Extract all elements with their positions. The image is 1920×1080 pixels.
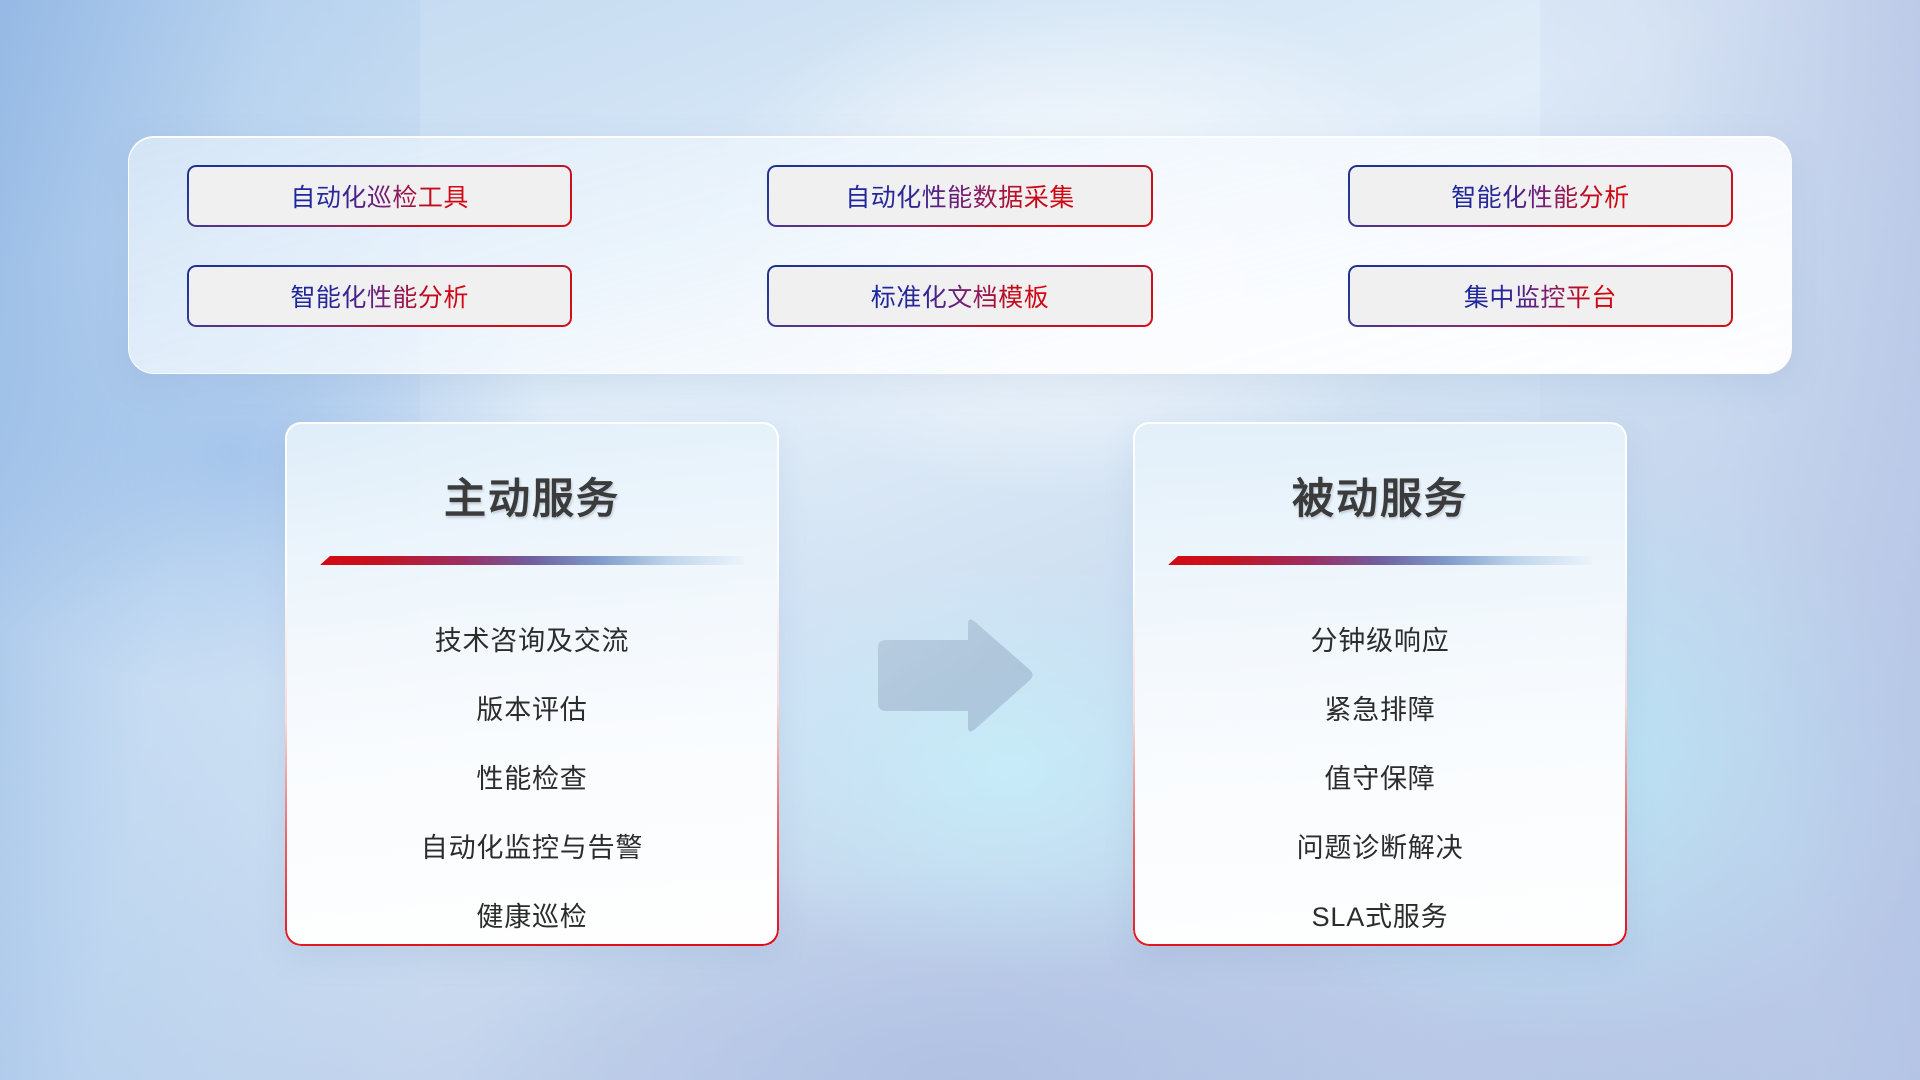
tool-chip-label: 集中监控平台 [1464, 278, 1617, 314]
list-item[interactable]: 问题诊断解决 [1133, 814, 1627, 883]
tool-chip-label: 自动化巡检工具 [290, 178, 469, 214]
divider-wedge [320, 556, 744, 565]
card-divider [320, 556, 744, 565]
list-item[interactable]: 健康巡检 [285, 883, 779, 946]
tool-chip-5[interactable]: 集中监控平台 [1348, 265, 1733, 327]
tools-panel: 自动化巡检工具 自动化性能数据采集 智能化性能分析 智能化性能分析 标准化文档模… [128, 136, 1792, 374]
list-item[interactable]: 性能检查 [285, 745, 779, 814]
list-item[interactable]: 值守保障 [1133, 745, 1627, 814]
tool-chip-label: 标准化文档模板 [871, 278, 1050, 314]
card-title: 被动服务 [1133, 465, 1627, 526]
service-card-reactive: 被动服务 分钟级响应 紧急排障 值守保障 问题诊断解决 SLA式服务 [1133, 422, 1627, 946]
tools-grid: 自动化巡检工具 自动化性能数据采集 智能化性能分析 智能化性能分析 标准化文档模… [187, 165, 1733, 345]
tool-chip-label: 智能化性能分析 [1451, 178, 1630, 214]
service-card-proactive: 主动服务 技术咨询及交流 版本评估 性能检查 自动化监控与告警 健康巡检 [285, 422, 779, 946]
list-item[interactable]: 自动化监控与告警 [285, 814, 779, 883]
tool-chip-2[interactable]: 智能化性能分析 [1348, 165, 1733, 227]
tool-chip-4[interactable]: 标准化文档模板 [767, 265, 1152, 327]
list-item[interactable]: 分钟级响应 [1133, 607, 1627, 676]
tool-chip-label: 自动化性能数据采集 [845, 178, 1075, 214]
list-item[interactable]: 版本评估 [285, 676, 779, 745]
list-item[interactable]: SLA式服务 [1133, 883, 1627, 946]
arrow-right-icon [872, 618, 1037, 733]
tool-chip-0[interactable]: 自动化巡检工具 [187, 165, 572, 227]
card-title: 主动服务 [285, 465, 779, 526]
tool-chip-3[interactable]: 智能化性能分析 [187, 265, 572, 327]
card-divider [1168, 556, 1592, 565]
divider-wedge [1168, 556, 1592, 565]
card-list: 分钟级响应 紧急排障 值守保障 问题诊断解决 SLA式服务 [1133, 607, 1627, 946]
list-item[interactable]: 紧急排障 [1133, 676, 1627, 745]
tool-chip-label: 智能化性能分析 [290, 278, 469, 314]
tool-chip-1[interactable]: 自动化性能数据采集 [767, 165, 1152, 227]
list-item[interactable]: 技术咨询及交流 [285, 607, 779, 676]
card-list: 技术咨询及交流 版本评估 性能检查 自动化监控与告警 健康巡检 [285, 607, 779, 946]
